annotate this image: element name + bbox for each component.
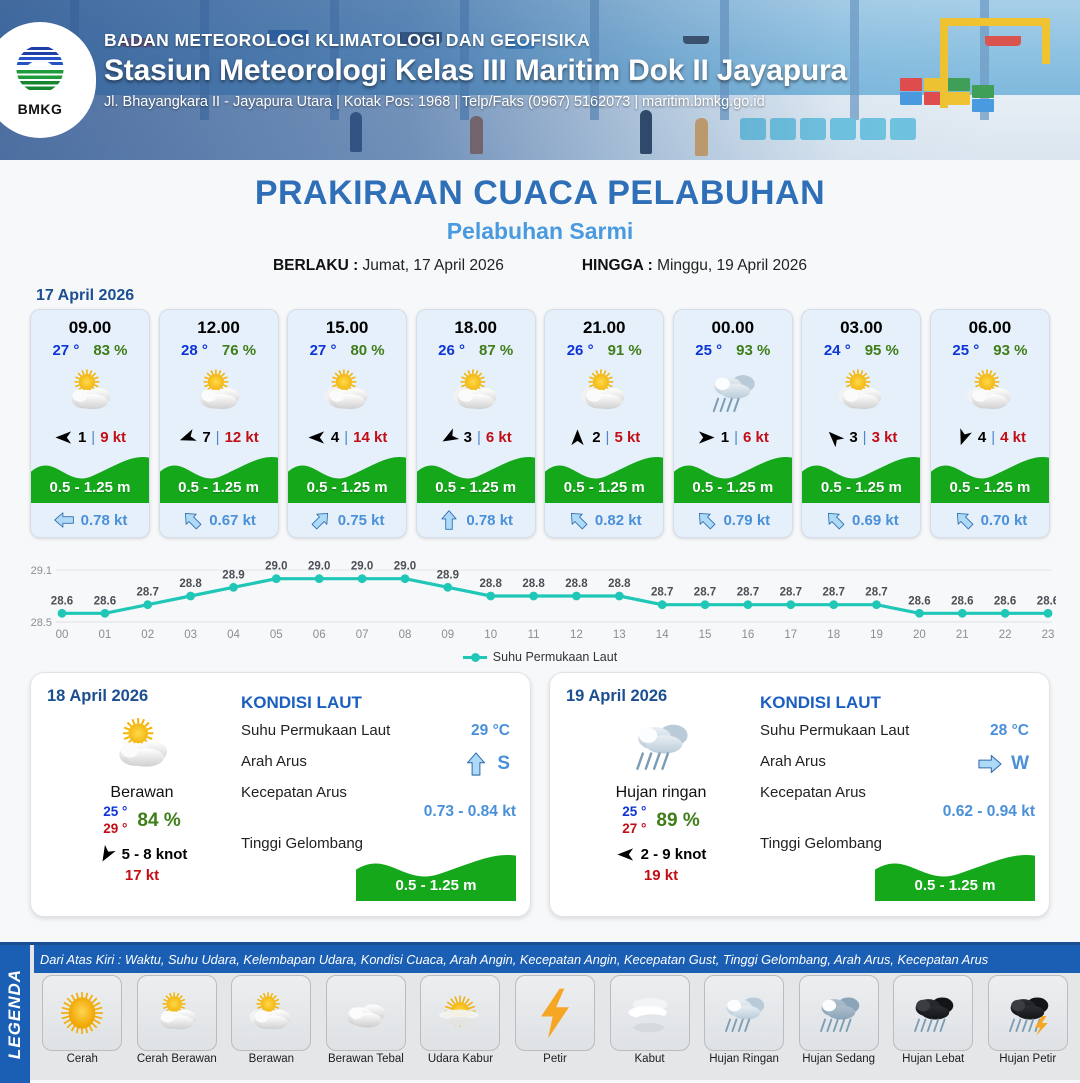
svg-text:21: 21 [956,629,969,641]
card-wave-height: 0.5 - 1.25 m [31,479,149,496]
day-wave-box: 0.5 - 1.25 m [875,847,1035,901]
svg-text:28.6: 28.6 [1037,595,1056,607]
current-direction-arrow-icon [438,509,460,531]
legend-side-title: LEGENDA [0,945,30,1083]
cerah-berawan-icon [31,361,149,423]
svg-text:11: 11 [528,629,540,641]
svg-text:28.7: 28.7 [737,587,759,599]
berawan-icon [802,361,920,423]
sea-row-label: Tinggi Gelombang [760,835,882,852]
sea-row-current-speed: Kecepatan Arus 0.62 - 0.94 kt [760,784,1035,826]
legend-item-label: Hujan Petir [999,1053,1056,1065]
forecast-card: 18.00 26 ° 87 % 3 [416,309,536,538]
page-header: BMKG BADAN METEOROLOGI KLIMATOLOGI DAN G… [0,0,1080,160]
card-wind: 2 | 5 kt [545,425,663,449]
svg-text:28.6: 28.6 [994,595,1016,607]
legend-item: Kabut [605,975,694,1078]
sea-row-sst: Suhu Permukaan Laut 28 °C [760,722,1035,744]
wind-separator: | [344,429,348,446]
svg-text:28.6: 28.6 [51,595,73,607]
card-wave: 0.5 - 1.25 m [160,449,278,503]
svg-text:28.7: 28.7 [780,587,802,599]
card-temperature: 28 ° [181,342,208,359]
svg-text:02: 02 [141,629,154,641]
legend-side-label: LEGENDA [5,969,25,1059]
svg-text:28.6: 28.6 [94,595,116,607]
card-wind-speed: 4 [978,429,986,446]
current-direction-arrow-icon [824,509,846,531]
forecast-card: 03.00 24 ° 95 % 3 [801,309,921,538]
legend-item-label: Hujan Sedang [802,1053,875,1065]
svg-text:16: 16 [742,629,755,641]
svg-text:18: 18 [827,629,840,641]
card-wave-height: 0.5 - 1.25 m [288,479,406,496]
card-time: 12.00 [160,310,278,338]
card-time: 21.00 [545,310,663,338]
legend-item: Hujan Ringan [700,975,789,1078]
daily-panels: 18 April 2026 Berawan 25 ° [0,664,1080,917]
berawan-icon [288,361,406,423]
day-temp-hum: 25 ° 27 ° 89 % [566,804,756,838]
card-temperature: 26 ° [438,342,465,359]
legend-item-label: Kabut [635,1053,665,1065]
svg-text:10: 10 [484,629,497,641]
card-time: 15.00 [288,310,406,338]
wind-separator: | [863,429,867,446]
sea-row-wave: Tinggi Gelombang 0.5 - 1.25 m [241,835,516,857]
card-humidity: 93 % [736,342,770,359]
card-wind-speed: 3 [464,429,472,446]
sea-row-label: Arah Arus [760,753,826,770]
card-current: 0.75 kt [288,503,406,537]
day-temp-min: 25 ° [622,804,646,821]
sea-row-current-direction: Arah Arus S [241,753,516,775]
sea-row-label: Suhu Permukaan Laut [760,722,909,739]
legend-bar: LEGENDA Dari Atas Kiri : Waktu, Suhu Uda… [0,942,1080,1080]
svg-text:28.5: 28.5 [31,617,52,629]
card-wave: 0.5 - 1.25 m [674,449,792,503]
current-direction-arrow-icon [977,751,1003,777]
udara-kabur-icon [420,975,500,1051]
card-humidity: 80 % [350,342,384,359]
card-current: 0.78 kt [31,503,149,537]
card-temp-hum: 25 ° 93 % [931,342,1049,359]
chart-legend-marker [463,656,487,659]
day-temp-max: 27 ° [622,821,646,838]
svg-text:28.9: 28.9 [437,569,459,581]
svg-text:28.8: 28.8 [608,578,631,590]
wind-direction-arrow-icon [178,428,197,447]
card-wave-height: 0.5 - 1.25 m [674,479,792,496]
day-temp-hum: 25 ° 29 ° 84 % [47,804,237,838]
validity-row: BERLAKU : Jumat, 17 April 2026 HINGGA : … [0,257,1080,275]
card-time: 03.00 [802,310,920,338]
svg-text:19: 19 [870,629,883,641]
sea-row-wave: Tinggi Gelombang 0.5 - 1.25 m [760,835,1035,857]
svg-text:29.0: 29.0 [351,561,373,573]
card-wind: 7 | 12 kt [160,425,278,449]
wind-direction-arrow-icon [825,428,844,447]
card-time: 18.00 [417,310,535,338]
wind-separator: | [477,429,481,446]
card-current: 0.70 kt [931,503,1049,537]
svg-text:29.0: 29.0 [308,561,330,573]
card-temp-hum: 25 ° 93 % [674,342,792,359]
svg-text:17: 17 [784,629,797,641]
svg-text:29.1: 29.1 [31,565,52,577]
card-humidity: 91 % [608,342,642,359]
card-wind: 3 | 3 kt [802,425,920,449]
legend-item: Cerah [38,975,127,1078]
svg-text:28.8: 28.8 [179,578,202,590]
card-wave-height: 0.5 - 1.25 m [417,479,535,496]
svg-text:08: 08 [399,629,412,641]
card-wave-height: 0.5 - 1.25 m [931,479,1049,496]
svg-text:23: 23 [1042,629,1055,641]
sea-condition-title: KONDISI LAUT [241,693,516,713]
card-current-speed: 0.67 kt [209,512,256,529]
legend-item-label: Cerah Berawan [137,1053,217,1065]
svg-text:28.9: 28.9 [222,569,244,581]
card-temperature: 24 ° [824,342,851,359]
card-temp-hum: 27 ° 80 % [288,342,406,359]
legend-item: Hujan Lebat [889,975,978,1078]
port-name: Pelabuhan Sarmi [0,218,1080,245]
card-gust: 12 kt [225,429,259,446]
card-wind-speed: 7 [202,429,210,446]
wind-direction-arrow-icon [697,428,716,447]
daily-panel: 18 April 2026 Berawan 25 ° [30,672,531,917]
hujan-sedang-icon [799,975,879,1051]
wind-separator: | [991,429,995,446]
page-title: PRAKIRAAN CUACA PELABUHAN [0,174,1080,213]
card-wave: 0.5 - 1.25 m [417,449,535,503]
sea-condition-block: KONDISI LAUT Suhu Permukaan Laut 28 °C A… [760,693,1035,857]
cerah-berawan-icon [47,710,237,780]
current-direction-arrow-icon [695,509,717,531]
forecast-card: 21.00 26 ° 91 % 2 [544,309,664,538]
current-direction-arrow-icon [310,509,332,531]
card-wind: 3 | 6 kt [417,425,535,449]
card-wave-height: 0.5 - 1.25 m [802,479,920,496]
hingga-label: HINGGA : [582,257,653,274]
forecast-card: 00.00 25 ° 93 % 1 | 6 kt 0.5 - 1.25 m [673,309,793,538]
hujan-ringan-icon [704,975,784,1051]
svg-text:01: 01 [99,629,112,641]
berlaku-value: Jumat, 17 April 2026 [363,257,504,274]
card-current-speed: 0.70 kt [981,512,1028,529]
svg-text:29.0: 29.0 [265,561,287,573]
legend-item: Petir [511,975,600,1078]
sea-row-label: Suhu Permukaan Laut [241,722,390,739]
wind-separator: | [606,429,610,446]
card-gust: 9 kt [100,429,126,446]
svg-text:13: 13 [613,629,626,641]
station-address: Jl. Bhayangkara II - Jayapura Utara | Ko… [104,94,847,110]
hingga-group: HINGGA : Minggu, 19 April 2026 [582,257,807,275]
card-current-speed: 0.75 kt [338,512,385,529]
legend-item-label: Petir [543,1053,567,1065]
sea-row-value: W [1011,753,1029,775]
card-wave: 0.5 - 1.25 m [31,449,149,503]
sea-row-current-speed: Kecepatan Arus 0.73 - 0.84 kt [241,784,516,826]
forecast-card-row: 09.00 27 ° 83 % 1 [0,309,1080,538]
svg-text:12: 12 [570,629,583,641]
svg-text:03: 03 [184,629,197,641]
day-wind-range: 5 - 8 knot [122,846,188,863]
sea-row-current-direction: Arah Arus W [760,753,1035,775]
day-wave-box: 0.5 - 1.25 m [356,847,516,901]
wind-separator: | [91,429,95,446]
sea-row-value: 0.62 - 0.94 kt [760,803,1035,821]
card-wave: 0.5 - 1.25 m [288,449,406,503]
day-wind: 5 - 8 knot [47,845,237,864]
wind-direction-arrow-icon [307,428,326,447]
cerah-berawan-icon [137,975,217,1051]
card-temperature: 26 ° [567,342,594,359]
svg-text:00: 00 [56,629,69,641]
card-current-speed: 0.78 kt [466,512,513,529]
sea-row-value: 0.73 - 0.84 kt [241,803,516,821]
sea-row-label: Arah Arus [241,753,307,770]
legend-item: Berawan [227,975,316,1078]
sea-row-value: 29 °C [471,722,510,740]
wind-direction-arrow-icon [568,428,587,447]
wind-separator: | [216,429,220,446]
svg-text:15: 15 [699,629,712,641]
card-wind: 4 | 14 kt [288,425,406,449]
legend-item-label: Hujan Lebat [902,1053,964,1065]
wind-direction-arrow-icon [97,845,116,864]
card-gust: 6 kt [743,429,769,446]
card-current: 0.78 kt [417,503,535,537]
svg-text:28.7: 28.7 [694,587,716,599]
card-temp-hum: 27 ° 83 % [31,342,149,359]
card-wind: 4 | 4 kt [931,425,1049,449]
card-wind-speed: 4 [331,429,339,446]
berawan-icon [931,361,1049,423]
agency-name: BADAN METEOROLOGI KLIMATOLOGI DAN GEOFIS… [104,30,847,51]
svg-text:14: 14 [656,629,669,641]
berawan-icon [545,361,663,423]
forecast-card: 15.00 27 ° 80 % 4 [287,309,407,538]
forecast-card: 06.00 25 ° 93 % 4 [930,309,1050,538]
card-wave: 0.5 - 1.25 m [545,449,663,503]
card-gust: 14 kt [353,429,387,446]
sea-row-label: Kecepatan Arus [241,784,347,801]
legend-item: Hujan Petir [983,975,1072,1078]
svg-text:28.8: 28.8 [522,578,545,590]
svg-text:05: 05 [270,629,283,641]
hujan-lebat-icon [893,975,973,1051]
sea-row-value: S [497,753,510,775]
sea-row-sst: Suhu Permukaan Laut 29 °C [241,722,516,744]
card-wind-speed: 1 [721,429,729,446]
card-current-speed: 0.69 kt [852,512,899,529]
card-time: 09.00 [31,310,149,338]
sea-row-label: Kecepatan Arus [760,784,866,801]
svg-text:22: 22 [999,629,1012,641]
card-humidity: 83 % [93,342,127,359]
card-wind: 1 | 6 kt [674,425,792,449]
svg-text:06: 06 [313,629,326,641]
chart-legend: Suhu Permukaan Laut [0,650,1080,664]
cerah-berawan-icon [160,361,278,423]
svg-text:04: 04 [227,629,240,641]
day-gust: 17 kt [47,867,237,884]
card-wave-height: 0.5 - 1.25 m [160,479,278,496]
day-temp-min: 25 ° [103,804,127,821]
card-temp-hum: 26 ° 91 % [545,342,663,359]
day-wind-range: 2 - 9 knot [641,846,707,863]
day-summary: Berawan 25 ° 29 ° 84 % 5 - 8 knot 17 kt [47,710,237,884]
hujan-ringan-icon [566,710,756,780]
card-current: 0.82 kt [545,503,663,537]
berlaku-label: BERLAKU : [273,257,358,274]
card-temp-hum: 26 ° 87 % [417,342,535,359]
sea-condition-block: KONDISI LAUT Suhu Permukaan Laut 29 °C A… [241,693,516,857]
legend-item-label: Cerah [67,1053,98,1065]
card-current-speed: 0.82 kt [595,512,642,529]
wind-direction-arrow-icon [440,428,459,447]
daily-panel: 19 April 2026 Hujan ringan 25 ° 27 ° 89 … [549,672,1050,917]
card-current: 0.69 kt [802,503,920,537]
svg-text:09: 09 [441,629,454,641]
current-direction-arrow-icon [53,509,75,531]
card-wave-height: 0.5 - 1.25 m [545,479,663,496]
day-condition: Berawan [47,784,237,802]
current-direction-arrow-icon [953,509,975,531]
card-humidity: 93 % [993,342,1027,359]
legend-item: Udara Kabur [416,975,505,1078]
sst-chart: 29.128.528.60028.60128.70228.80328.90429… [24,548,1056,648]
svg-text:28.8: 28.8 [480,578,503,590]
legend-item: Hujan Sedang [794,975,883,1078]
hujan-petir-icon [988,975,1068,1051]
card-wind-speed: 2 [592,429,600,446]
day-gust: 19 kt [566,867,756,884]
card-temperature: 27 ° [310,342,337,359]
card-wave: 0.5 - 1.25 m [802,449,920,503]
svg-text:28.6: 28.6 [951,595,973,607]
svg-text:29.0: 29.0 [394,561,416,573]
legend-item-label: Udara Kabur [428,1053,493,1065]
card-temperature: 27 ° [52,342,79,359]
berawan-tebal-icon [326,975,406,1051]
day-wave-height: 0.5 - 1.25 m [356,877,516,894]
card-wind: 1 | 9 kt [31,425,149,449]
kabut-icon [610,975,690,1051]
card-gust: 5 kt [614,429,640,446]
bmkg-logo-mark [12,43,68,99]
title-area: PRAKIRAAN CUACA PELABUHAN Pelabuhan Sarm… [0,160,1080,275]
hujan-ringan-icon [674,361,792,423]
card-temperature: 25 ° [695,342,722,359]
card-time: 06.00 [931,310,1049,338]
legend-item-label: Berawan [249,1053,294,1065]
day-condition: Hujan ringan [566,784,756,802]
wind-direction-arrow-icon [954,428,973,447]
wind-separator: | [734,429,738,446]
svg-text:28.7: 28.7 [865,587,887,599]
forecast-card: 12.00 28 ° 76 % 7 [159,309,279,538]
card-time: 00.00 [674,310,792,338]
svg-text:28.6: 28.6 [908,595,930,607]
card-wind-speed: 1 [78,429,86,446]
header-text-block: BADAN METEOROLOGI KLIMATOLOGI DAN GEOFIS… [104,30,847,110]
card-wind-speed: 3 [849,429,857,446]
day-humidity: 84 % [137,810,180,832]
svg-text:28.7: 28.7 [137,587,159,599]
berawan-icon [231,975,311,1051]
day-wave-height: 0.5 - 1.25 m [875,877,1035,894]
current-direction-arrow-icon [463,751,489,777]
card-temperature: 25 ° [952,342,979,359]
legend-icon-row: Cerah Cerah Berawan [34,975,1076,1078]
sea-condition-title: KONDISI LAUT [760,693,1035,713]
day-humidity: 89 % [656,810,699,832]
card-wave: 0.5 - 1.25 m [931,449,1049,503]
wind-direction-arrow-icon [54,428,73,447]
hingga-value: Minggu, 19 April 2026 [657,257,807,274]
current-direction-arrow-icon [181,509,203,531]
card-humidity: 87 % [479,342,513,359]
legend-item-label: Hujan Ringan [709,1053,779,1065]
legend-note: Dari Atas Kiri : Waktu, Suhu Udara, Kele… [34,945,1080,973]
card-gust: 4 kt [1000,429,1026,446]
sea-row-value: 28 °C [990,722,1029,740]
card-current: 0.79 kt [674,503,792,537]
legend-item: Berawan Tebal [322,975,411,1078]
card-current-speed: 0.79 kt [723,512,770,529]
legend-item: Cerah Berawan [133,975,222,1078]
current-direction-arrow-icon [567,509,589,531]
berlaku-group: BERLAKU : Jumat, 17 April 2026 [273,257,504,275]
bmkg-logo-label: BMKG [18,101,63,117]
day-summary: Hujan ringan 25 ° 27 ° 89 % 2 - 9 knot 1… [566,710,756,884]
berawan-icon [417,361,535,423]
svg-text:28.7: 28.7 [823,587,845,599]
svg-text:28.8: 28.8 [565,578,588,590]
sea-row-label: Tinggi Gelombang [241,835,363,852]
station-name: Stasiun Meteorologi Kelas III Maritim Do… [104,54,847,88]
card-temp-hum: 28 ° 76 % [160,342,278,359]
card-temp-hum: 24 ° 95 % [802,342,920,359]
day-temp-max: 29 ° [103,821,127,838]
svg-text:07: 07 [356,629,369,641]
card-gust: 6 kt [486,429,512,446]
petir-icon [515,975,595,1051]
svg-text:28.7: 28.7 [651,587,673,599]
card-current-speed: 0.78 kt [81,512,128,529]
legend-item-label: Berawan Tebal [328,1053,404,1065]
chart-legend-label: Suhu Permukaan Laut [493,650,617,664]
svg-text:20: 20 [913,629,926,641]
card-gust: 3 kt [872,429,898,446]
cerah-icon [42,975,122,1051]
forecast-card: 09.00 27 ° 83 % 1 [30,309,150,538]
card-current: 0.67 kt [160,503,278,537]
day-wind: 2 - 9 knot [566,845,756,864]
card-humidity: 95 % [865,342,899,359]
card-humidity: 76 % [222,342,256,359]
forecast-date-label: 17 April 2026 [36,287,1080,305]
wind-direction-arrow-icon [616,845,635,864]
